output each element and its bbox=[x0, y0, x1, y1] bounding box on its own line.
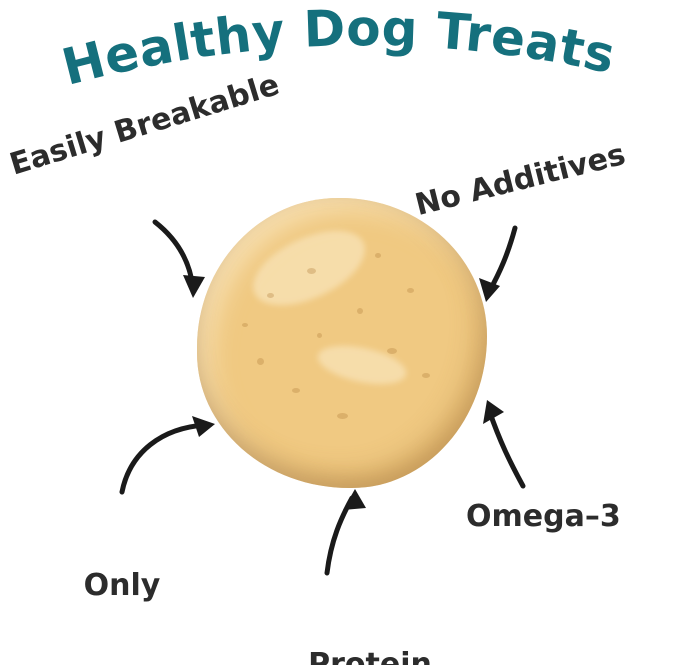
arrow-no-additives bbox=[489, 228, 515, 292]
treat-speck bbox=[357, 308, 363, 314]
product-image-dog-treat bbox=[197, 198, 487, 488]
arrow-only-1-ingredient bbox=[122, 425, 205, 492]
treat-speck bbox=[257, 358, 264, 365]
label-only-line1: Only bbox=[22, 569, 222, 603]
page-title: Healthy Dog Treats bbox=[0, 8, 679, 108]
treat-speck bbox=[307, 268, 316, 274]
arrow-easily-breakable bbox=[155, 222, 193, 288]
label-protein-line1: Protein bbox=[290, 648, 450, 665]
title-text: Healthy Dog Treats bbox=[56, 8, 620, 97]
arrow-omega-3 bbox=[489, 410, 523, 486]
arrow-protein-rich bbox=[327, 498, 352, 573]
label-no-additives: No Additives bbox=[412, 138, 629, 223]
treat-speck bbox=[375, 253, 381, 258]
treat-speck bbox=[242, 323, 248, 327]
title-svg: Healthy Dog Treats bbox=[0, 8, 679, 108]
label-protein-rich: Protein Rich bbox=[290, 581, 450, 665]
label-only-1-ingredient: Only 1 Ingredient bbox=[22, 502, 222, 665]
treat-speck bbox=[387, 348, 397, 354]
treat-speck bbox=[422, 373, 430, 378]
treat-speck bbox=[317, 333, 322, 338]
treat-speck bbox=[407, 288, 414, 293]
arrowhead-protein-rich bbox=[343, 489, 366, 510]
treat-speck bbox=[292, 388, 300, 393]
label-omega-3: Omega–3 bbox=[466, 500, 621, 534]
infographic-page: Healthy Dog Treats bbox=[0, 0, 679, 665]
treat-speck bbox=[267, 293, 274, 298]
treat-speck bbox=[337, 413, 348, 419]
